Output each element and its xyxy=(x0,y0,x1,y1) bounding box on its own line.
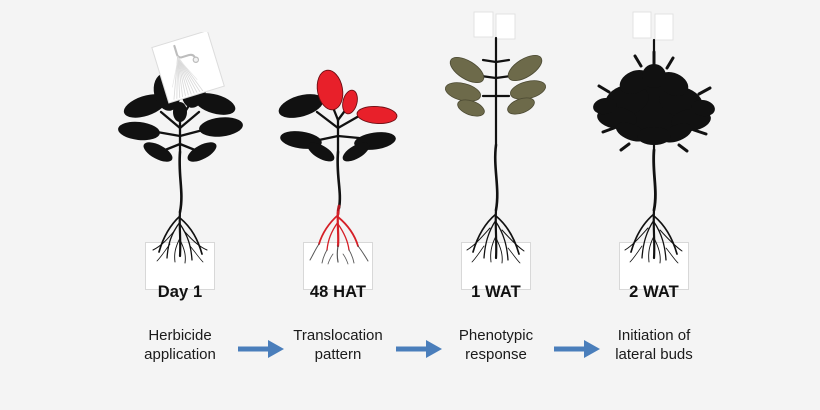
caption-line-1: Phenotypic xyxy=(421,326,571,345)
caption-line-1: Initiation of xyxy=(579,326,729,345)
plant-illustration-translocation xyxy=(253,0,423,265)
process-flow-row: Herbicide application Translocation patt… xyxy=(0,320,820,380)
figure-canvas: Day 1 xyxy=(0,0,820,410)
herbicide-sprayer-nozzle-icon xyxy=(148,32,228,108)
flow-caption-phenotypic-response: Phenotypic response xyxy=(421,326,571,364)
caption-line-2: application xyxy=(105,345,255,364)
stage-label-2-wat: 2 WAT xyxy=(569,283,739,302)
flow-caption-translocation-pattern: Translocation pattern xyxy=(263,326,413,364)
stage-column-48-hat: 48 HAT xyxy=(253,0,423,310)
caption-line-1: Translocation xyxy=(263,326,413,345)
plant-illustration-necrotic xyxy=(411,0,581,265)
stage-column-1-wat: 1 WAT xyxy=(411,0,581,310)
caption-line-2: lateral buds xyxy=(579,345,729,364)
flow-caption-herbicide-application: Herbicide application xyxy=(105,326,255,364)
caption-line-2: pattern xyxy=(263,345,413,364)
stage-column-2-wat: 2 WAT xyxy=(569,0,739,310)
stage-label-day-1: Day 1 xyxy=(95,283,265,302)
caption-line-2: response xyxy=(421,345,571,364)
stage-label-48-hat: 48 HAT xyxy=(253,283,423,302)
caption-line-1: Herbicide xyxy=(105,326,255,345)
flow-caption-initiation-lateral-buds: Initiation of lateral buds xyxy=(579,326,729,364)
stage-label-1-wat: 1 WAT xyxy=(411,283,581,302)
plant-illustration-regrowth xyxy=(569,0,739,265)
